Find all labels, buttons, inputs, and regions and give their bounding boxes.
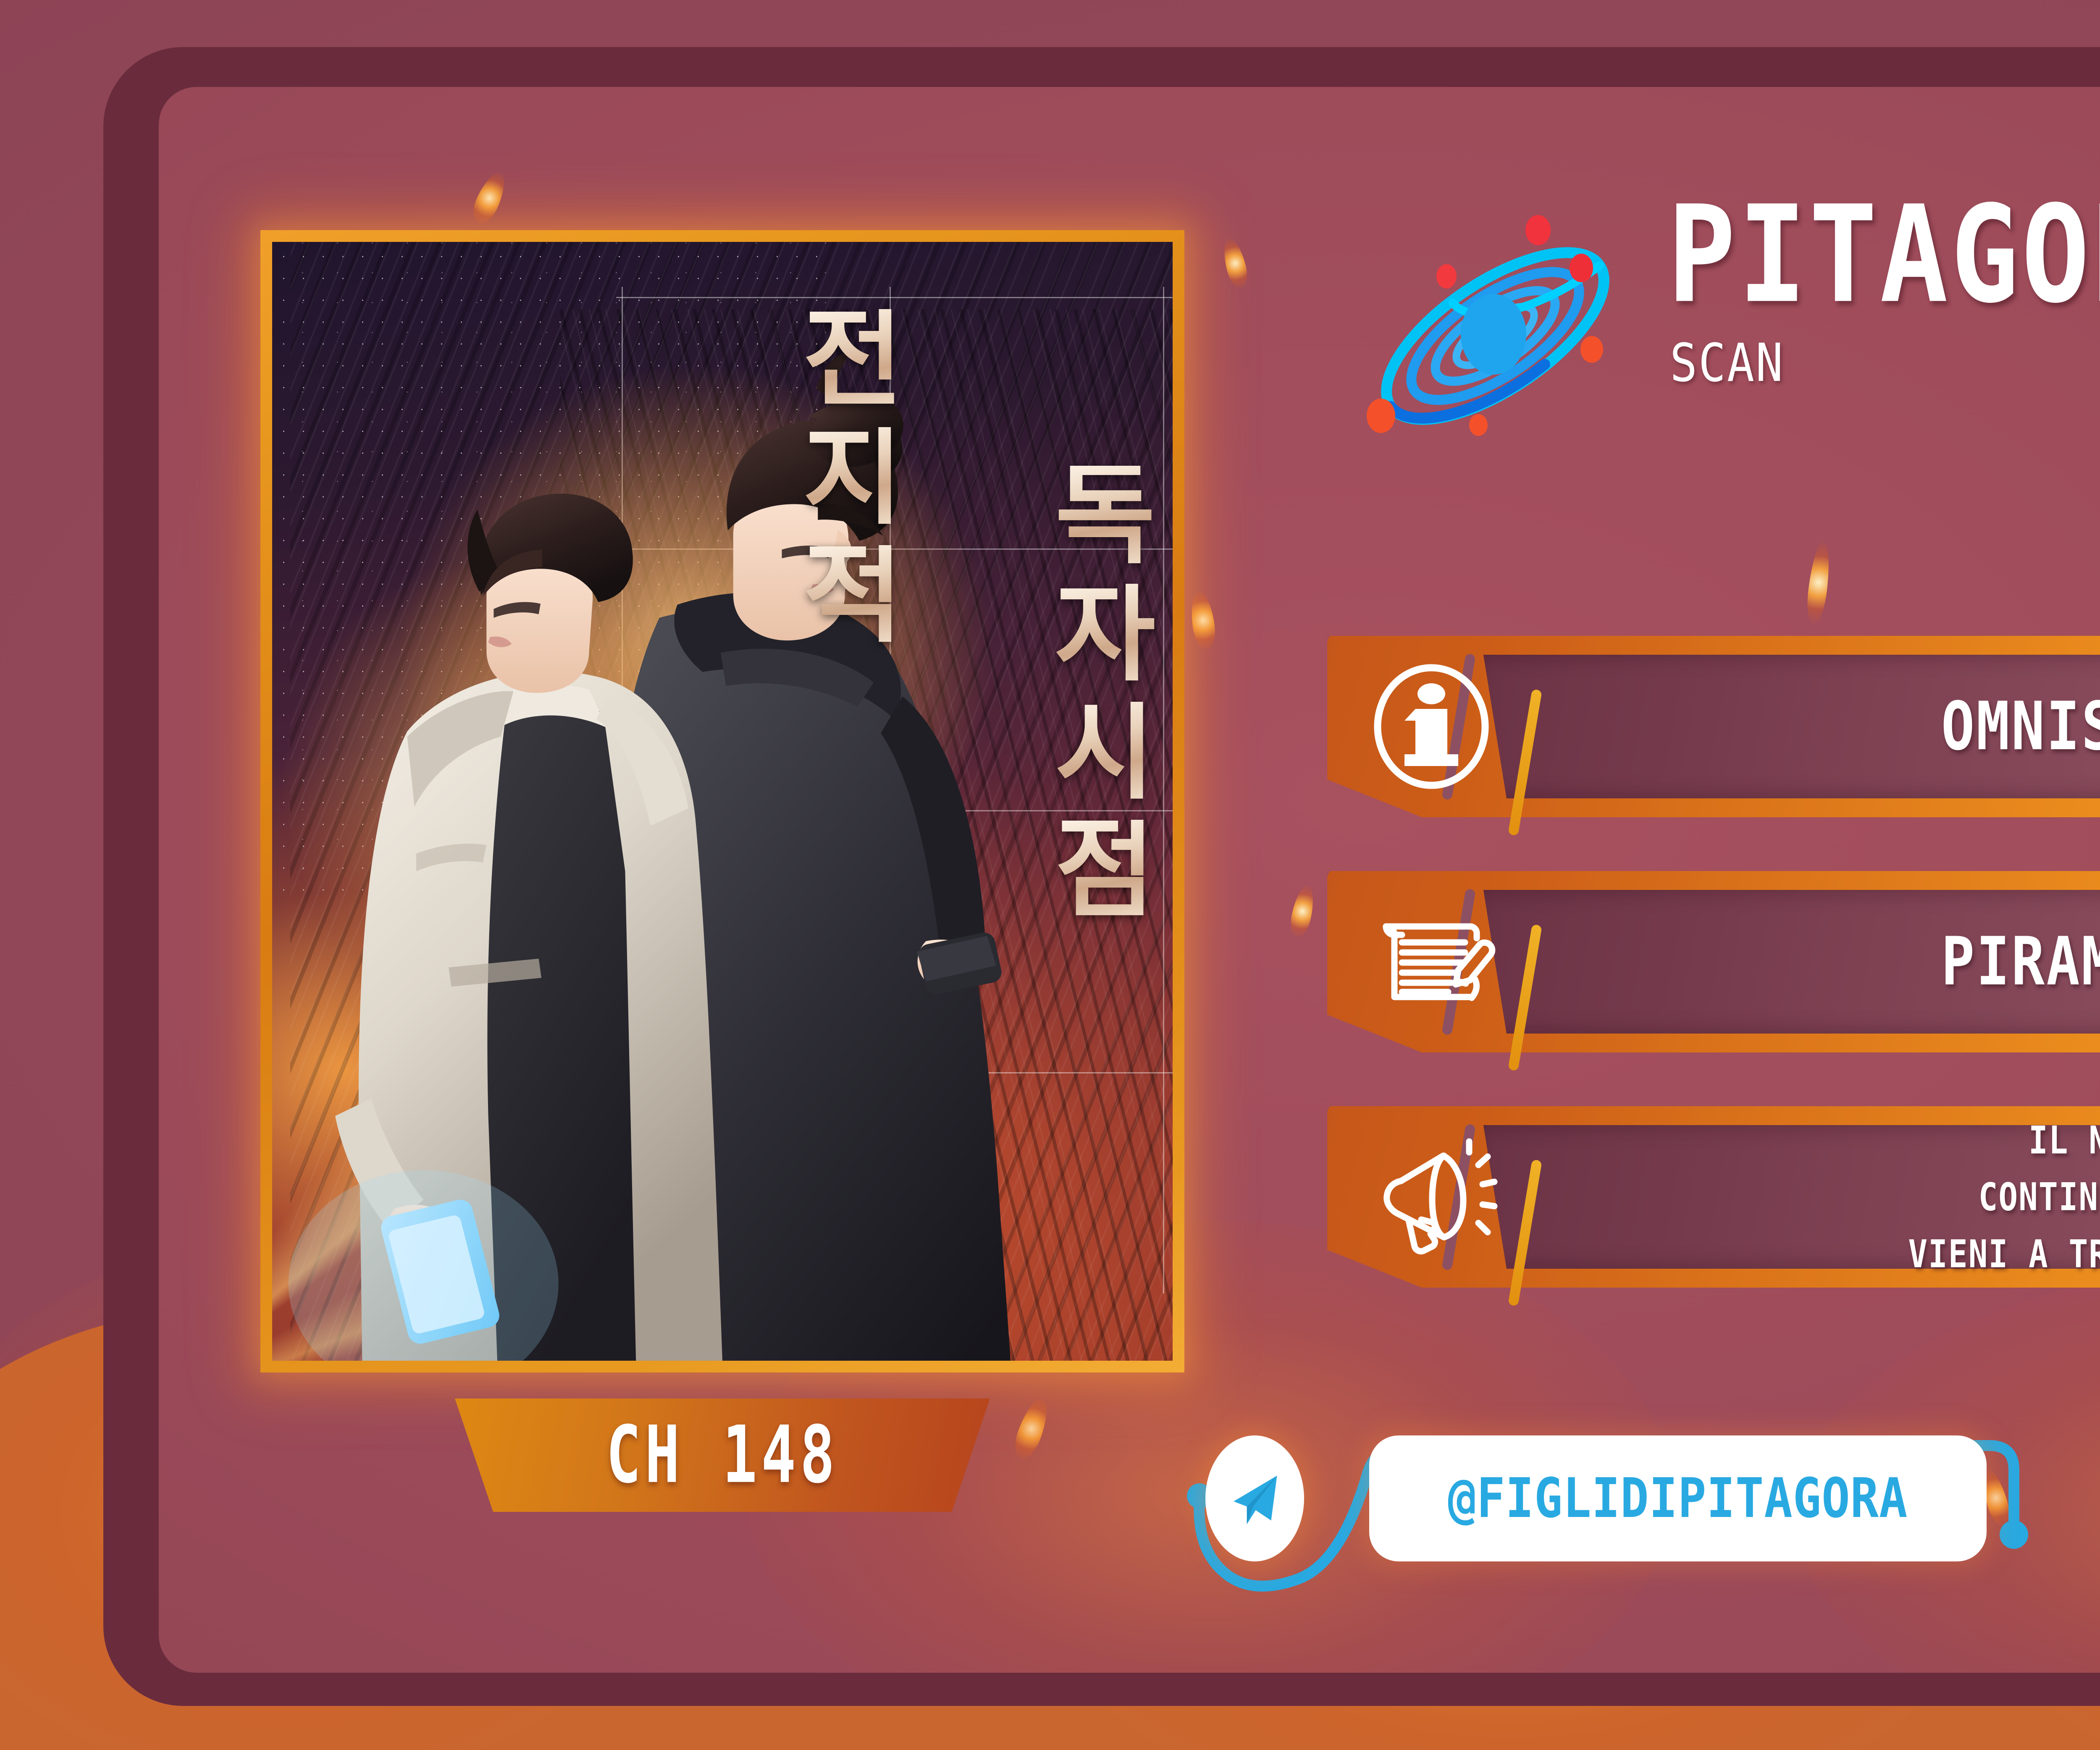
cover-korean-title-left: 전 지 적 [803, 309, 903, 646]
telegram-icon-badge[interactable] [1205, 1435, 1304, 1561]
orbit-dot [1580, 336, 1603, 363]
korean-glyph: 점 [1055, 820, 1155, 920]
ember-spark [1288, 883, 1318, 939]
cover-art-image: 전 지 적 독 자 시 점 [272, 242, 1173, 1361]
korean-glyph: 지 [803, 427, 903, 527]
poster-canvas: 전 지 적 독 자 시 점 CH 148 [0, 0, 2100, 1750]
character-illustration [272, 242, 1173, 1361]
galaxy-icon [1340, 214, 1651, 458]
banner-text: IL NOSTRO TEAM È ALLA CONTINUA RICERCA D… [1683, 1102, 2100, 1291]
orbit-dot [1525, 215, 1551, 245]
telegram-icon [1226, 1469, 1284, 1528]
info-banner-title[interactable]: OMNISCIENT READER [1327, 632, 2100, 821]
orbit-dot [1436, 264, 1457, 289]
ember-spark [1010, 1395, 1053, 1462]
korean-glyph: 전 [803, 309, 903, 409]
cover-art-frame: 전 지 적 독 자 시 점 [260, 230, 1184, 1372]
ember-spark [1804, 540, 1833, 625]
banner-text: OMNISCIENT READER [1683, 632, 2100, 821]
cover-characters [272, 242, 1173, 1361]
brand-subtitle: SCAN [1670, 333, 2100, 394]
orbit-dot [1570, 254, 1593, 282]
banner-line: VIENI A TROVARCI SUI VARI SOCIAL. [1908, 1220, 2100, 1288]
orbit-dot [1469, 414, 1488, 436]
korean-glyph: 자 [1055, 584, 1155, 684]
document-pen-icon [1362, 892, 1501, 1031]
ember-spark [468, 168, 511, 228]
telegram-handle-pill[interactable]: @FIGLIDIPITAGORA [1369, 1435, 1987, 1561]
banner-line: OMNISCIENT READER [1941, 688, 2100, 766]
social-links-row: @FIGLIDIPITAGORA DISCORD.GG/N94GDTY [1172, 1398, 2100, 1617]
cover-korean-title-right: 독 자 시 점 [1055, 466, 1155, 921]
banner-text: PIRAMIDE96, SOPHY [1683, 867, 2100, 1056]
chapter-tab[interactable]: CH 148 [428, 1398, 1016, 1512]
ember-spark [1220, 236, 1251, 290]
banner-line: PIRAMIDE96, SOPHY [1941, 923, 2100, 1001]
info-banner-recruiting[interactable]: IL NOSTRO TEAM È ALLA CONTINUA RICERCA D… [1327, 1102, 2100, 1291]
info-banner-list: OMNISCIENT READER [1327, 632, 2100, 1329]
info-circle-icon [1362, 657, 1501, 796]
brand-logo-block: PITAGORA SCAN [1340, 197, 2100, 483]
orbit-dot [1367, 399, 1395, 433]
korean-glyph: 적 [803, 545, 903, 645]
ember-spark [1188, 590, 1218, 651]
brand-text: PITAGORA SCAN [1667, 197, 2100, 385]
social-telegram-group[interactable]: @FIGLIDIPITAGORA [1172, 1398, 2100, 1617]
telegram-handle-label: @FIGLIDIPITAGORA [1448, 1467, 1908, 1530]
megaphone-icon [1362, 1128, 1501, 1266]
korean-glyph: 독 [1055, 466, 1155, 566]
chapter-tab-label: CH 148 [606, 1409, 839, 1501]
brand-title: PITAGORA [1667, 197, 2100, 312]
info-banner-staff[interactable]: PIRAMIDE96, SOPHY [1327, 867, 2100, 1056]
korean-glyph: 시 [1055, 702, 1155, 802]
